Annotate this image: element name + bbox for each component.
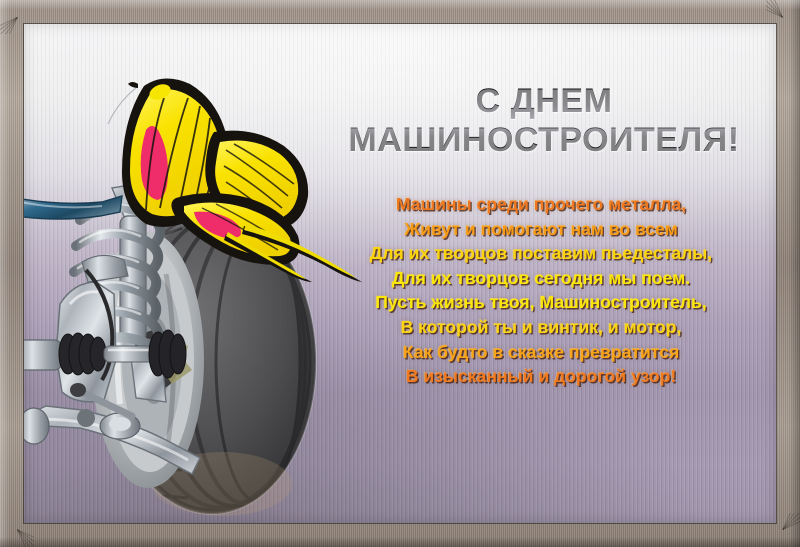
poem-line: Как будто в сказке превратится	[310, 340, 772, 365]
greeting-card: С ДНЕМ МАШИНОСТРОИТЕЛЯ! Машины среди про…	[0, 0, 800, 547]
poem-line: В которой ты и винтик, и мотор,	[310, 315, 772, 340]
poem-line: Для их творцов поставим пьедесталы,	[310, 241, 772, 266]
poster-plate: С ДНЕМ МАШИНОСТРОИТЕЛЯ! Машины среди про…	[24, 24, 776, 523]
page-title: С ДНЕМ МАШИНОСТРОИТЕЛЯ!	[324, 82, 764, 160]
poem-line: Для их творцов сегодня мы поем.	[310, 266, 772, 291]
poem-line: Живут и помогают нам во всем	[310, 217, 772, 242]
artwork-layer: С ДНЕМ МАШИНОСТРОИТЕЛЯ! Машины среди про…	[24, 24, 776, 523]
poem-block: Машины среди прочего металла, Живут и по…	[310, 192, 772, 389]
poem-line: Машины среди прочего металла,	[310, 192, 772, 217]
poem-line: В изысканный и дорогой узор!	[310, 364, 772, 389]
poem-line: Пусть жизнь твоя, Машиностроитель,	[310, 290, 772, 315]
